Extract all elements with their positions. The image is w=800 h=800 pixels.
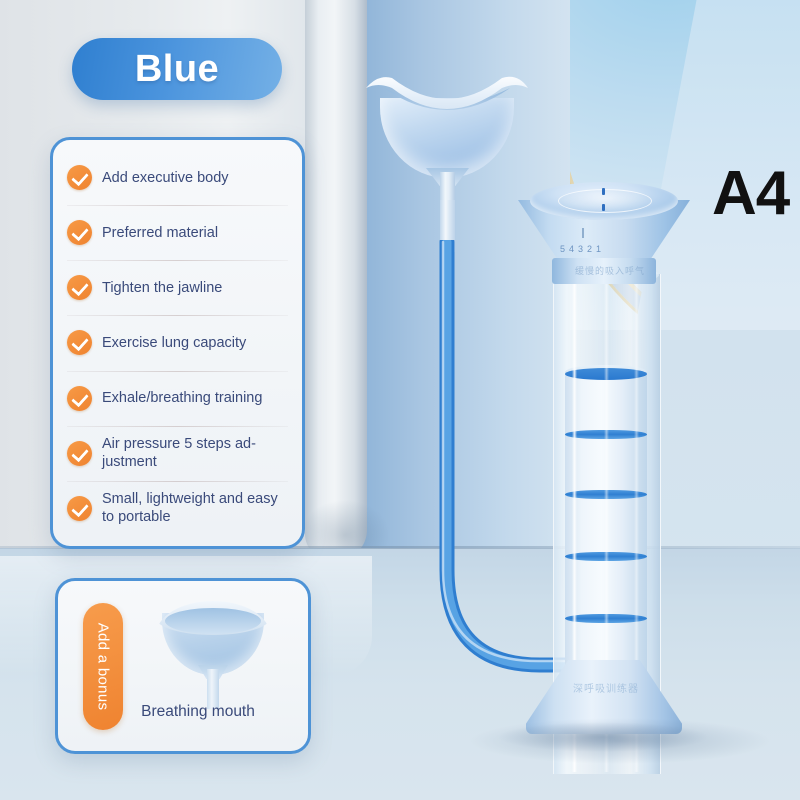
feature-label: Small, lightweight and easy to portable — [102, 490, 288, 526]
feature-label: Add executive body — [102, 169, 229, 187]
model-label: A4 — [712, 158, 789, 229]
check-circle-icon — [67, 496, 92, 521]
check-circle-icon — [67, 165, 92, 190]
base-embossed-text: 深呼吸训练器 — [546, 680, 666, 695]
product-cylinder-assembly: 54321 缓慢的吸入呼气 深呼吸训练器 — [508, 182, 698, 752]
mouthpiece-rim-inner — [165, 608, 261, 634]
feature-label: Exercise lung capacity — [102, 334, 246, 352]
feature-list: Add executive body Preferred material Ti… — [53, 150, 302, 536]
feature-item: Small, lightweight and easy to portable — [53, 481, 302, 536]
check-circle-icon — [67, 441, 92, 466]
cap-indicator-mark — [602, 188, 605, 195]
bonus-caption: Breathing mouth — [58, 703, 308, 721]
product-floor-shadow — [470, 718, 770, 764]
breathing-mouthpiece-illustration — [148, 599, 278, 707]
feature-item: Tighten the jawline — [53, 260, 302, 315]
cap-alignment-tick — [582, 228, 584, 238]
check-circle-icon — [67, 275, 92, 300]
bonus-pill-label: Add a bonus — [95, 623, 112, 711]
feature-label: Preferred material — [102, 224, 218, 242]
cap-dial-ring — [558, 189, 652, 213]
product-cap: 54321 缓慢的吸入呼气 — [518, 182, 690, 287]
color-variant-label: Blue — [135, 48, 219, 91]
cap-scale-numbers: 54321 — [560, 244, 650, 256]
feature-label: Air pressure 5 steps ad-justment — [102, 435, 288, 471]
color-variant-badge[interactable]: Blue — [72, 38, 282, 100]
feature-item: Add executive body — [53, 150, 302, 205]
feature-item: Exhale/breathing training — [53, 371, 302, 426]
bonus-card: Add a bonus Breathing mouth — [55, 578, 311, 754]
check-circle-icon — [67, 330, 92, 355]
cap-embossed-text: 缓慢的吸入呼气 — [562, 264, 658, 277]
feature-list-card: Add executive body Preferred material Ti… — [50, 137, 305, 549]
product-poster: Blue Add executive body Preferred materi… — [0, 0, 800, 800]
feature-item: Air pressure 5 steps ad-justment — [53, 426, 302, 481]
feature-item: Exercise lung capacity — [53, 315, 302, 370]
feature-item: Preferred material — [53, 205, 302, 260]
feature-label: Tighten the jawline — [102, 279, 222, 297]
check-circle-icon — [67, 386, 92, 411]
feature-label: Exhale/breathing training — [102, 389, 262, 407]
cap-indicator-mark — [602, 204, 605, 211]
check-circle-icon — [67, 220, 92, 245]
